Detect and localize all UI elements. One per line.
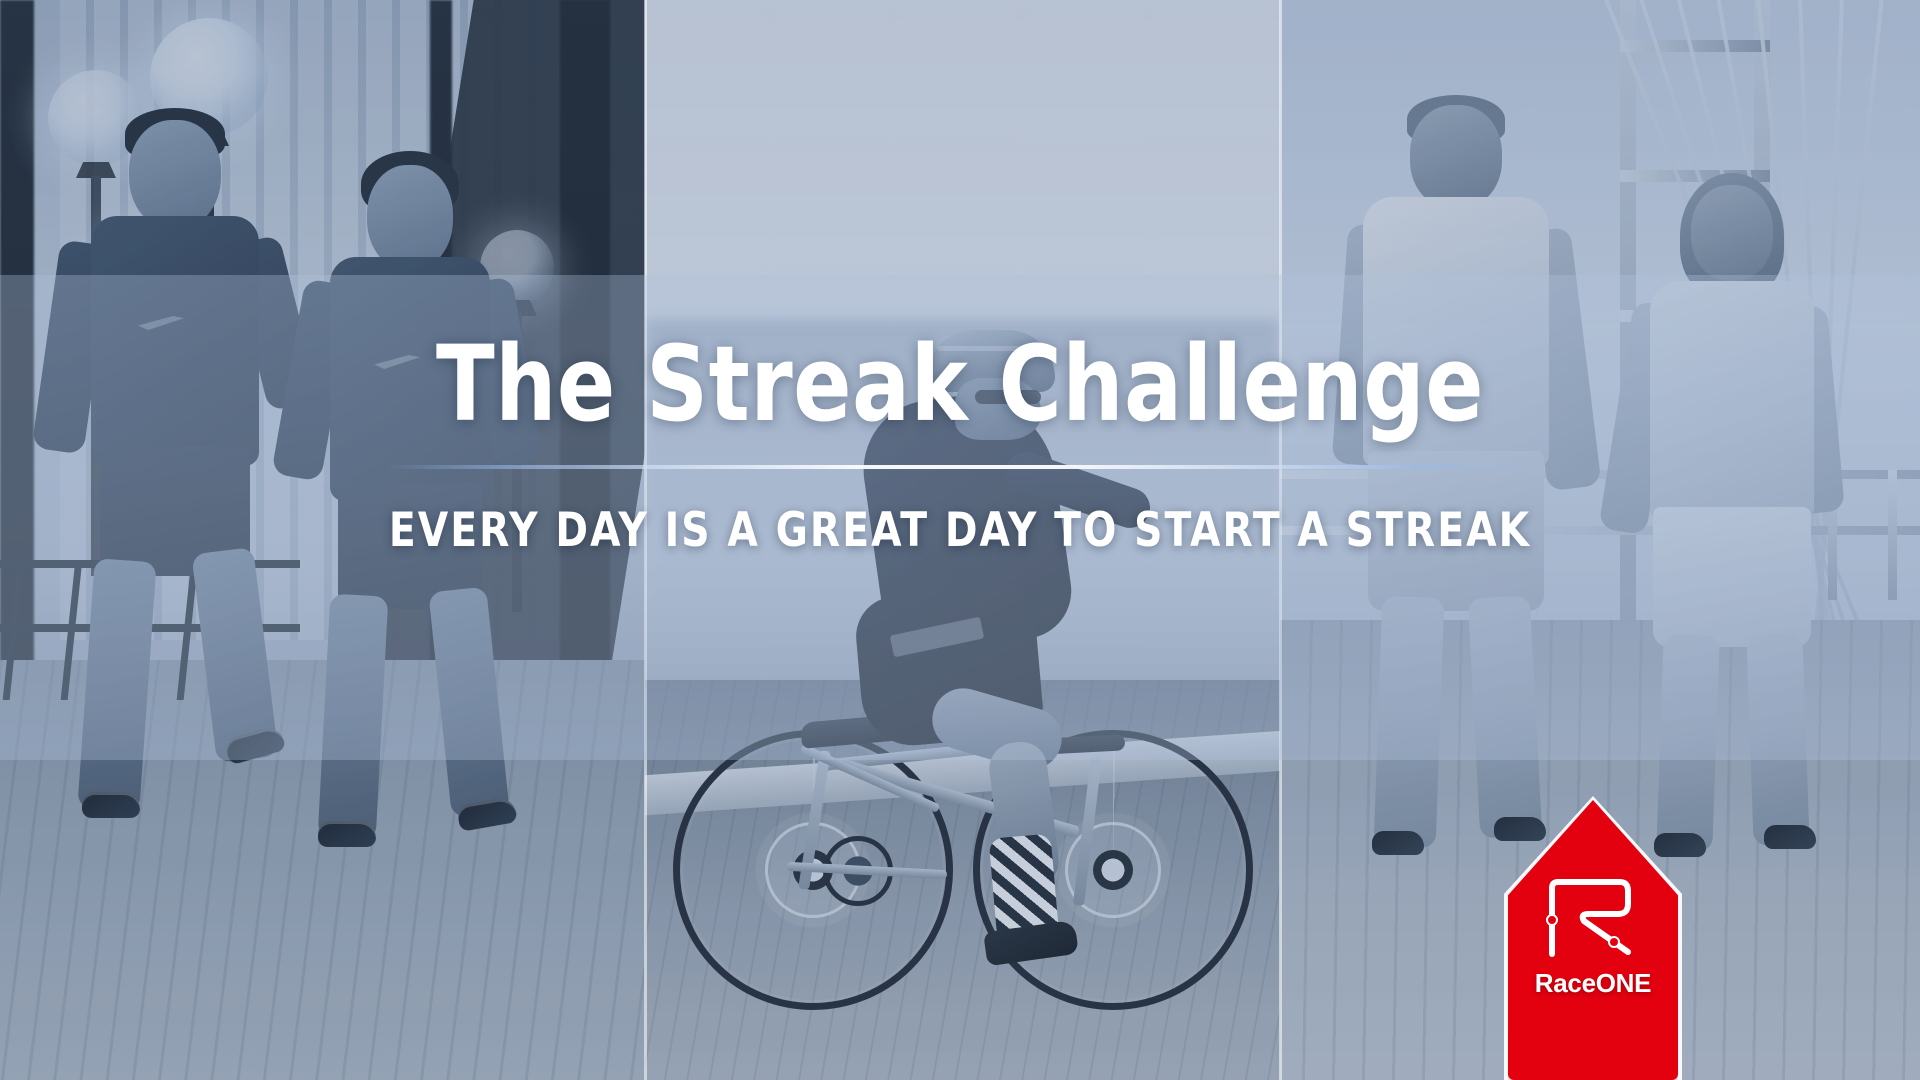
raceone-r-track-icon [1536,874,1650,960]
raceone-wordmark: RaceONE [1508,968,1678,999]
streak-challenge-banner: The Streak Challenge EVERY DAY IS A GREA… [0,0,1920,1080]
raceone-logo[interactable]: RaceONE [1508,800,1678,1080]
cyclist-rider [835,330,1135,930]
walker-female [1632,185,1832,885]
runners-photo [0,0,645,1080]
runner-female [300,165,520,925]
cyclist-photo [645,0,1280,1080]
cyclist-glasses [975,390,1041,404]
walker-male [1346,105,1566,885]
panel-cyclist [645,0,1280,1080]
runner-male [60,120,290,910]
runners-post-3 [560,0,610,760]
panel-runners [0,0,645,1080]
